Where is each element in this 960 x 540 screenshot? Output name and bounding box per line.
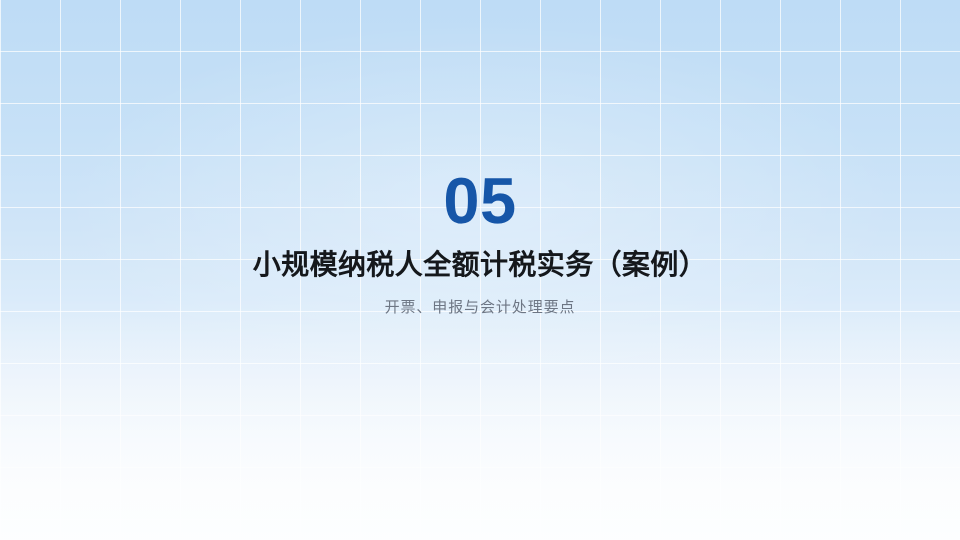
section-title: 小规模纳税人全额计税实务（案例） <box>253 247 707 282</box>
section-subtitle: 开票、申报与会计处理要点 <box>385 297 576 318</box>
slide-content-block: 05 小规模纳税人全额计税实务（案例） 开票、申报与会计处理要点 <box>0 168 960 318</box>
slide-root: 05 小规模纳税人全额计税实务（案例） 开票、申报与会计处理要点 <box>0 0 960 540</box>
section-number: 05 <box>443 168 516 233</box>
